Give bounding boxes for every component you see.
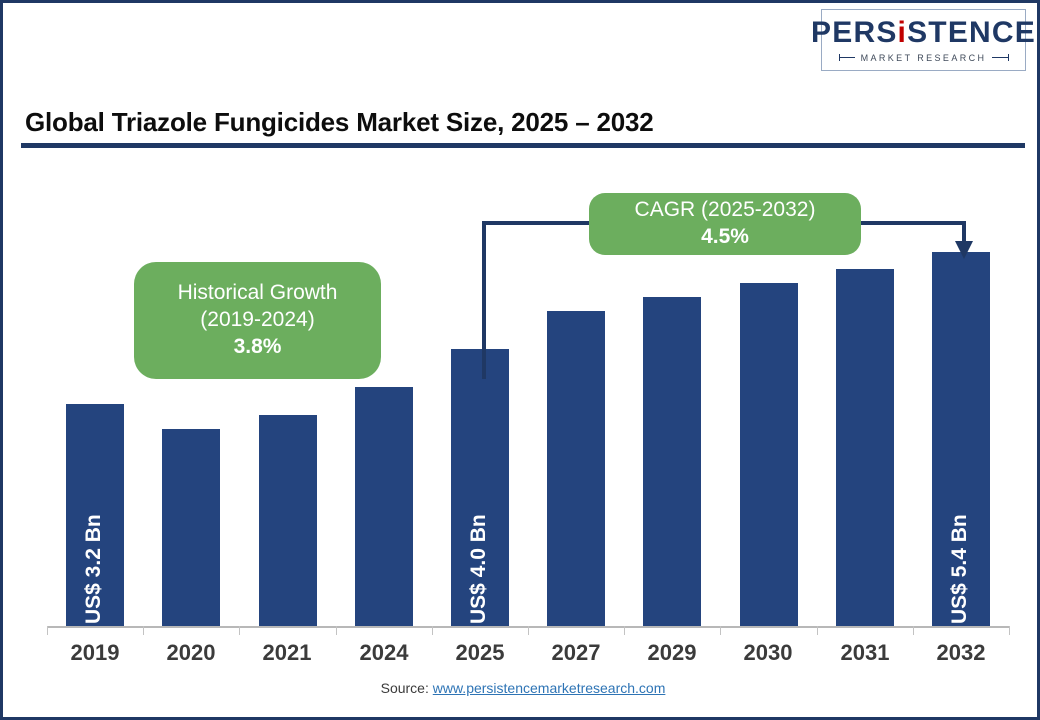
chart-plot-area: US$ 3.2 BnUS$ 4.0 BnUS$ 5.4 Bn 201920202…	[3, 3, 1040, 720]
source-note: Source: www.persistencemarketresearch.co…	[3, 680, 1040, 696]
cagr-callout-value: 4.5%	[701, 224, 749, 251]
historical-callout-value: 3.8%	[234, 334, 282, 361]
source-link[interactable]: www.persistencemarketresearch.com	[433, 680, 666, 696]
cagr-callout-line1: CAGR (2025-2032)	[635, 197, 816, 224]
cagr-callout: CAGR (2025-2032) 4.5%	[589, 193, 861, 255]
chart-page: PERSiSTENCE MARKET RESEARCH Global Triaz…	[0, 0, 1040, 720]
historical-callout-line2: (2019-2024)	[200, 307, 314, 334]
historical-growth-callout: Historical Growth (2019-2024) 3.8%	[134, 262, 381, 379]
source-prefix: Source:	[381, 680, 433, 696]
historical-callout-line1: Historical Growth	[178, 280, 338, 307]
